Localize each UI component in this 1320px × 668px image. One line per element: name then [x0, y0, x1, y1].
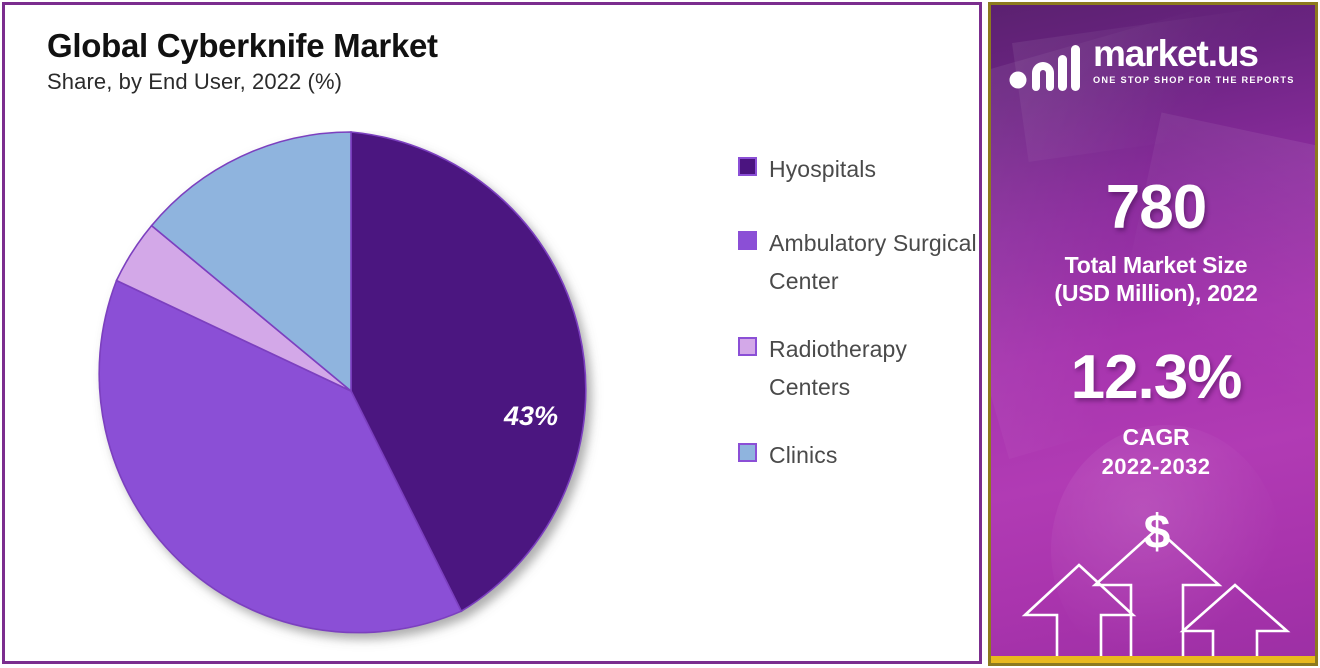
legend: Hyospitals Ambulatory Surgical Center Ra… — [738, 151, 978, 475]
gold-baseline-divider — [991, 656, 1318, 663]
growth-arrows-svg: $ — [991, 493, 1318, 663]
growth-arrows-artwork: $ — [991, 493, 1318, 663]
stat-caption-market-size: Total Market Size (USD Million), 2022 — [991, 251, 1318, 307]
pie-chart: 43% — [91, 131, 611, 653]
pie-slices-group — [99, 132, 586, 633]
page-title: Global Cyberknife Market — [47, 27, 747, 65]
pie-chart-svg: 43% — [91, 131, 611, 653]
legend-swatch-icon-hyospitals — [738, 157, 757, 176]
legend-swatch-icon-ambulatory-surgical-center — [738, 231, 757, 250]
stat-value-market-size: 780 — [991, 177, 1318, 239]
chart-panel: Global Cyberknife Market Share, by End U… — [2, 2, 982, 664]
legend-label-ambulatory-surgical-center: Ambulatory Surgical Center — [769, 225, 978, 301]
legend-label-hyospitals: Hyospitals — [769, 151, 876, 189]
legend-label-radiotherapy-centers: Radiotherapy Centers — [769, 331, 978, 407]
legend-item-radiotherapy-centers[interactable]: Radiotherapy Centers — [738, 331, 978, 407]
legend-item-ambulatory-surgical-center[interactable]: Ambulatory Surgical Center — [738, 225, 978, 301]
stats-sidebar: market.us ONE STOP SHOP FOR THE REPORTS … — [988, 2, 1318, 666]
legend-item-hyospitals[interactable]: Hyospitals — [738, 151, 978, 189]
logo-tagline: ONE STOP SHOP FOR THE REPORTS — [1093, 75, 1295, 85]
stat-caption-line-1: Total Market Size — [991, 251, 1318, 279]
logo-wordmark: market.us — [1093, 35, 1295, 72]
legend-swatch-icon-clinics — [738, 443, 757, 462]
logo-text-block: market.us ONE STOP SHOP FOR THE REPORTS — [1093, 35, 1295, 85]
market-us-logo-mark-icon — [1009, 33, 1083, 100]
stat-caption-cagr-label: CAGR — [991, 423, 1318, 451]
arrow-up-icon-left — [1025, 565, 1133, 663]
legend-item-clinics[interactable]: Clinics — [738, 437, 978, 475]
stat-caption-line-2: (USD Million), 2022 — [991, 279, 1318, 307]
arrow-up-icon-right — [1183, 585, 1287, 663]
dollar-sign-icon: $ — [1144, 506, 1171, 559]
brand-logo[interactable]: market.us ONE STOP SHOP FOR THE REPORTS — [1009, 31, 1295, 100]
page-subtitle: Share, by End User, 2022 (%) — [47, 69, 747, 95]
infographic-root: Global Cyberknife Market Share, by End U… — [0, 0, 1320, 668]
stat-caption-cagr-years: 2022-2032 — [991, 453, 1318, 481]
stat-total-market-size: 780 Total Market Size (USD Million), 202… — [991, 177, 1318, 307]
stat-cagr: 12.3% CAGR 2022-2032 — [991, 347, 1318, 481]
legend-swatch-icon-radiotherapy-centers — [738, 337, 757, 356]
title-block: Global Cyberknife Market Share, by End U… — [47, 27, 747, 95]
stat-caption-cagr: CAGR 2022-2032 — [991, 423, 1318, 481]
legend-label-clinics: Clinics — [769, 437, 837, 475]
stat-value-cagr: 12.3% — [991, 347, 1318, 409]
pie-slice-label-hyospitals: 43% — [503, 401, 558, 431]
